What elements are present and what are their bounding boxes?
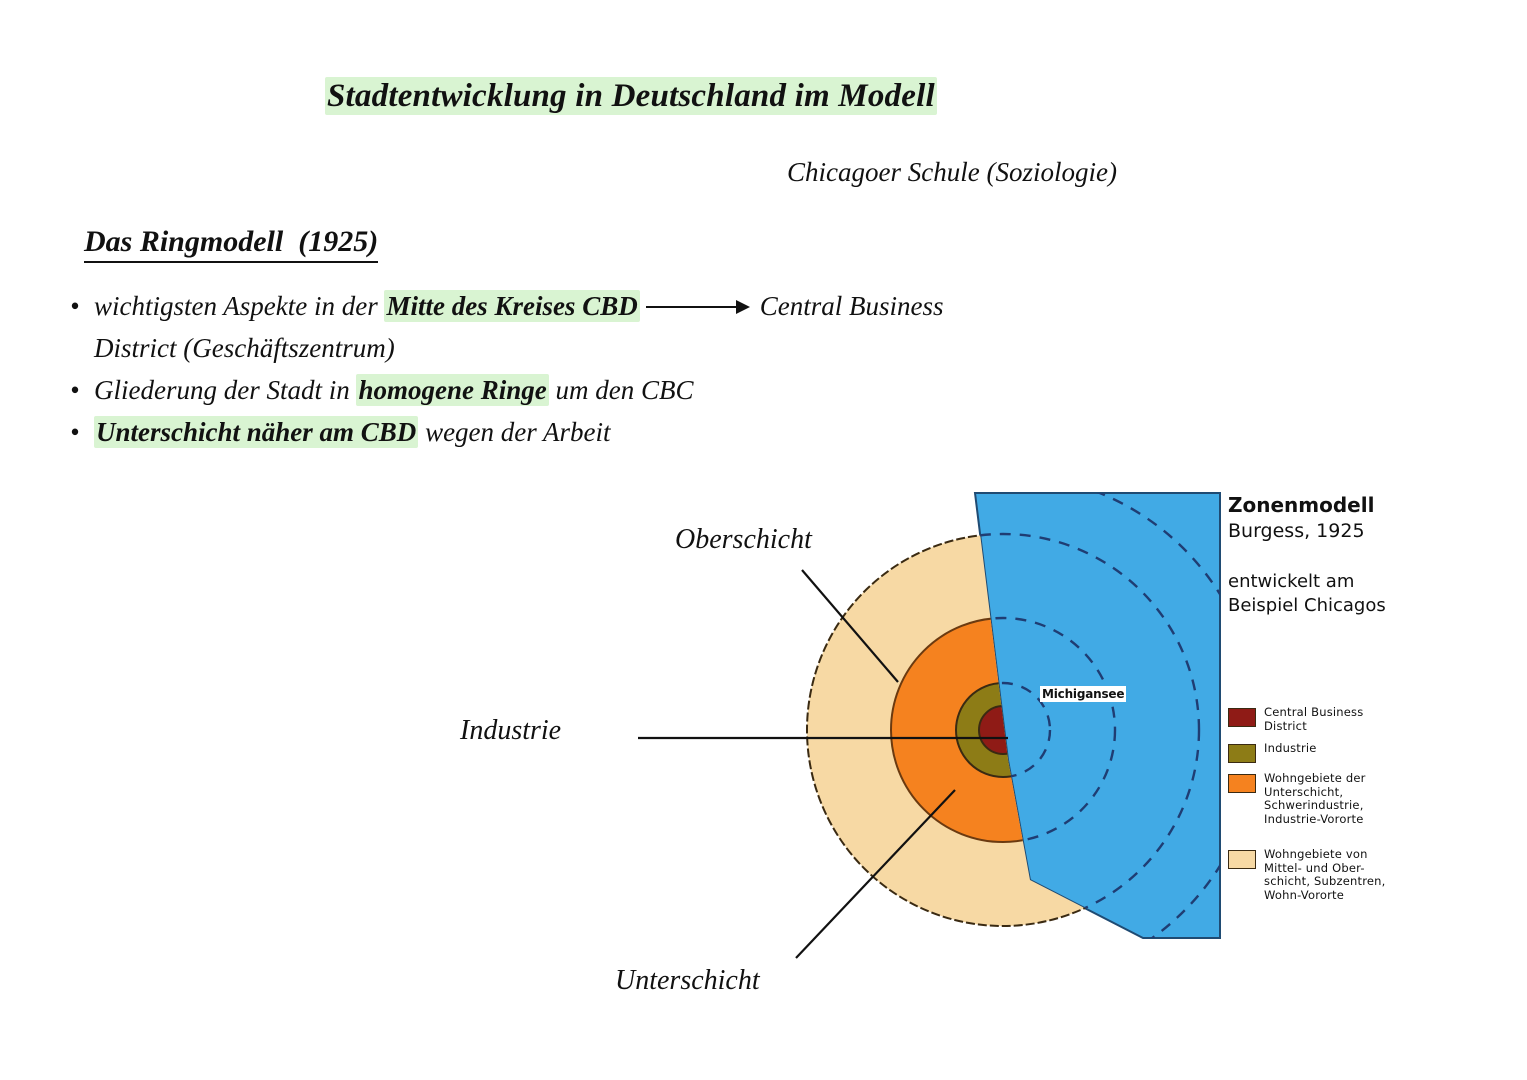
legend-label-oberschicht-line1: Wohngebiete von	[1264, 848, 1386, 862]
page-title-text: Stadtentwicklung in Deutschland im Model…	[325, 77, 937, 115]
legend-swatch-oberschicht	[1228, 850, 1256, 869]
bullet-text: Unterschicht näher am CBD wegen der Arbe…	[94, 411, 1330, 453]
page-title: Stadtentwicklung in Deutschland im Model…	[325, 78, 937, 115]
list-item: • Gliederung der Stadt in homogene Ringe…	[70, 369, 1330, 411]
legend-item-cbd: Central Business District	[1228, 706, 1418, 733]
arrow-right-icon	[646, 300, 756, 314]
callout-label-industrie: Industrie	[460, 715, 561, 747]
legend-note-line2: Beispiel Chicagos	[1228, 594, 1418, 618]
bullet-3-highlight: Unterschicht näher am CBD	[94, 416, 418, 448]
legend-label-oberschicht: Wohngebiete von Mittel- und Ober- schich…	[1264, 848, 1386, 902]
list-item: • Unterschicht näher am CBD wegen der Ar…	[70, 411, 1330, 453]
callout-label-oberschicht: Oberschicht	[675, 524, 812, 556]
bullet-text: wichtigsten Aspekte in der Mitte des Kre…	[94, 285, 1330, 369]
legend-label-oberschicht-line2: Mittel- und Ober-	[1264, 862, 1386, 876]
legend-label-industrie: Industrie	[1264, 742, 1317, 756]
bullet-2-part3: um den CBC	[549, 375, 694, 405]
legend-label-unterschicht-line1: Wohngebiete der	[1264, 772, 1366, 786]
legend-note: entwickelt am Beispiel Chicagos	[1228, 570, 1418, 618]
bullet-3-part3: wegen der Arbeit	[418, 417, 610, 447]
legend-label-cbd: Central Business District	[1264, 706, 1363, 733]
legend-label-unterschicht: Wohngebiete der Unterschicht, Schwerindu…	[1264, 772, 1366, 826]
section-heading-text: Das Ringmodell	[84, 225, 283, 258]
legend-item-oberschicht: Wohngebiete von Mittel- und Ober- schich…	[1228, 848, 1418, 902]
legend-label-cbd-line2: District	[1264, 720, 1363, 734]
bullet-2-part1: Gliederung der Stadt in	[94, 375, 356, 405]
legend-items: Central Business District Industrie Wohn…	[1228, 706, 1418, 902]
legend-label-oberschicht-line4: Wohn-Vororte	[1264, 889, 1386, 903]
legend-item-industrie: Industrie	[1228, 742, 1418, 763]
section-heading-year: (1925)	[298, 225, 378, 258]
legend-label-industrie-line1: Industrie	[1264, 742, 1317, 756]
bullet-marker: •	[70, 369, 94, 411]
legend-label-unterschicht-line2: Unterschicht,	[1264, 786, 1366, 800]
legend-swatch-industrie	[1228, 744, 1256, 763]
legend-label-unterschicht-line3: Schwerindustrie,	[1264, 799, 1366, 813]
bullet-1-line2: District (Geschäftszentrum)	[94, 333, 395, 363]
bullet-list: • wichtigsten Aspekte in der Mitte des K…	[70, 285, 1330, 453]
legend-item-unterschicht: Wohngebiete der Unterschicht, Schwerindu…	[1228, 772, 1418, 826]
legend-swatch-unterschicht	[1228, 774, 1256, 793]
legend-title: Zonenmodell	[1228, 492, 1418, 518]
list-item: • wichtigsten Aspekte in der Mitte des K…	[70, 285, 1330, 369]
legend-panel: Zonenmodell Burgess, 1925 entwickelt am …	[1228, 492, 1418, 932]
bullet-marker: •	[70, 285, 94, 327]
bullet-marker: •	[70, 411, 94, 453]
bullet-1-part1: wichtigsten Aspekte in der	[94, 291, 384, 321]
legend-author: Burgess, 1925	[1228, 518, 1418, 544]
callout-label-unterschicht: Unterschicht	[615, 965, 760, 997]
legend-label-cbd-line1: Central Business	[1264, 706, 1363, 720]
bullet-text: Gliederung der Stadt in homogene Ringe u…	[94, 369, 1330, 411]
legend-label-unterschicht-line4: Industrie-Vororte	[1264, 813, 1366, 827]
bullet-2-highlight: homogene Ringe	[356, 374, 548, 406]
page-subtitle: Chicagoer Schule (Soziologie)	[787, 157, 1117, 188]
michigansee-label: Michigansee	[1040, 686, 1126, 702]
legend-swatch-cbd	[1228, 708, 1256, 727]
section-heading: Das Ringmodell (1925)	[84, 225, 378, 259]
legend-note-line1: entwickelt am	[1228, 570, 1418, 594]
legend-label-oberschicht-line3: schicht, Subzentren,	[1264, 875, 1386, 889]
bullet-1-part3: Central Business	[760, 291, 944, 321]
bullet-1-highlight: Mitte des Kreises CBD	[384, 290, 639, 322]
burgess-zone-model-diagram: Oberschicht Industrie Unterschicht Michi…	[430, 460, 1520, 1040]
